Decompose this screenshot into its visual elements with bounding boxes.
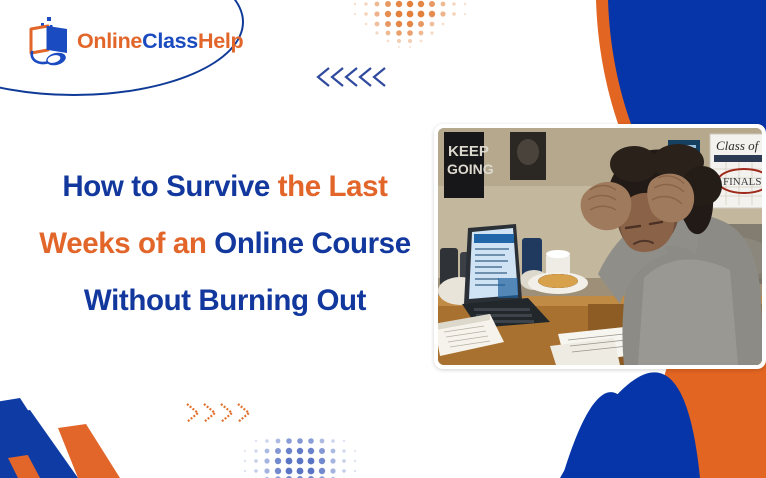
headline-line3: Without Burning Out bbox=[84, 284, 366, 317]
svg-text:Class of: Class of bbox=[716, 138, 761, 153]
hero-photo-frame: KEEP GOING Class of bbox=[434, 124, 766, 369]
headline-line-3: Without Burning Out bbox=[20, 272, 430, 329]
svg-text:FINALS: FINALS bbox=[723, 176, 762, 188]
bottom-chevrons-right-icon bbox=[184, 399, 256, 427]
open-book-with-mouse-icon bbox=[18, 16, 72, 68]
logo-word-online: Online bbox=[77, 29, 142, 53]
headline-line-2: Weeks of an Online Course bbox=[20, 215, 430, 272]
top-dot-grid bbox=[349, 0, 471, 50]
headline-line1-blue: How to Survive bbox=[62, 170, 277, 203]
bottom-curve-blue bbox=[560, 372, 700, 478]
headline-line2-orange: Weeks of an bbox=[39, 227, 214, 260]
headline-line1-orange: the Last bbox=[278, 170, 388, 203]
top-chevrons-left-icon bbox=[313, 63, 387, 91]
promo-banner: OnlineClassHelp bbox=[0, 0, 766, 478]
bottom-band-blue bbox=[562, 392, 646, 478]
corner-bars-decoration bbox=[0, 388, 140, 478]
svg-text:KEEP: KEEP bbox=[448, 143, 489, 160]
stressed-student-at-laptop-photo: KEEP GOING Class of bbox=[438, 128, 762, 365]
page-title: How to Survive the Last Weeks of an Onli… bbox=[20, 158, 430, 329]
logo[interactable]: OnlineClassHelp bbox=[0, 0, 250, 96]
bottom-dot-grid bbox=[239, 437, 361, 478]
svg-text:GOING: GOING bbox=[447, 161, 494, 177]
logo-word-class: Class bbox=[142, 29, 198, 53]
headline-line2-blue: Online Course bbox=[214, 227, 410, 260]
logo-word-help: Help bbox=[198, 29, 243, 53]
headline-line-1: How to Survive the Last bbox=[20, 158, 430, 215]
logo-wordmark: OnlineClassHelp bbox=[77, 31, 243, 53]
